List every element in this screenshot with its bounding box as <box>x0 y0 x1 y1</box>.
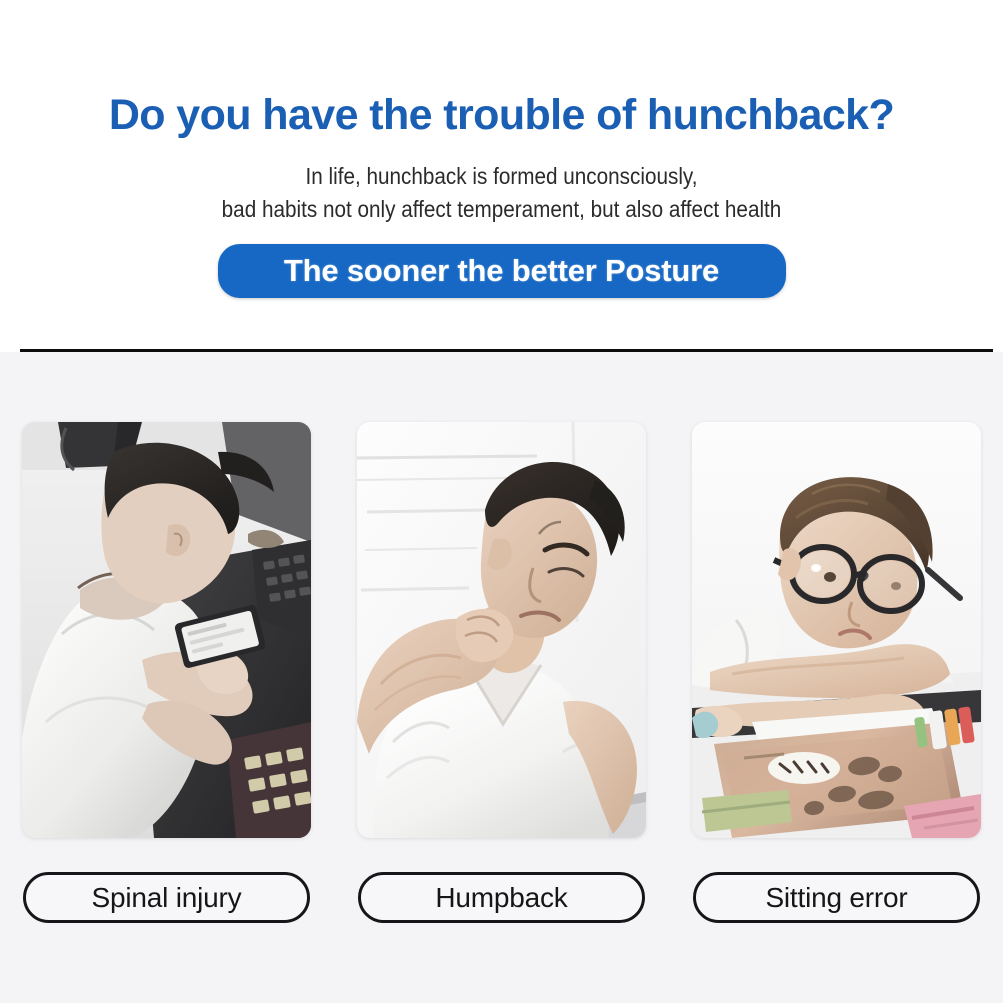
label-pill-text-sitting-error: Sitting error <box>765 882 907 914</box>
photo-hunched-over-desk <box>22 422 311 838</box>
photo-child-resting-on-books <box>692 422 981 838</box>
photo-illustration-1 <box>22 422 311 838</box>
problem-card-humpback[interactable]: Humpback <box>357 422 646 923</box>
problem-card-spinal-injury[interactable]: Spinal injury <box>22 422 311 923</box>
page-subtitle: In life, hunchback is formed unconscious… <box>50 160 953 227</box>
badge-container: The sooner the better Posture <box>0 244 1003 298</box>
label-pill-humpback[interactable]: Humpback <box>358 872 645 923</box>
label-pill-text-spinal-injury: Spinal injury <box>92 882 242 914</box>
label-pill-spinal-injury[interactable]: Spinal injury <box>23 872 310 923</box>
problem-cards-row: Spinal injury <box>22 422 981 923</box>
tagline-badge[interactable]: The sooner the better Posture <box>218 244 786 298</box>
label-pill-sitting-error[interactable]: Sitting error <box>693 872 980 923</box>
photo-illustration-2 <box>357 422 646 838</box>
page-headline: Do you have the trouble of hunchback? <box>0 92 1003 138</box>
problems-panel: Spinal injury <box>0 352 1003 1003</box>
hero-section: Do you have the trouble of hunchback? In… <box>0 0 1003 350</box>
photo-illustration-3 <box>692 422 981 838</box>
photo-neck-pain <box>357 422 646 838</box>
label-pill-text-humpback: Humpback <box>435 882 567 914</box>
problem-card-sitting-error[interactable]: Sitting error <box>692 422 981 923</box>
subtitle-line-2: bad habits not only affect temperament, … <box>50 193 953 226</box>
subtitle-line-1: In life, hunchback is formed unconscious… <box>50 160 953 193</box>
tagline-badge-label: The sooner the better Posture <box>284 253 719 289</box>
